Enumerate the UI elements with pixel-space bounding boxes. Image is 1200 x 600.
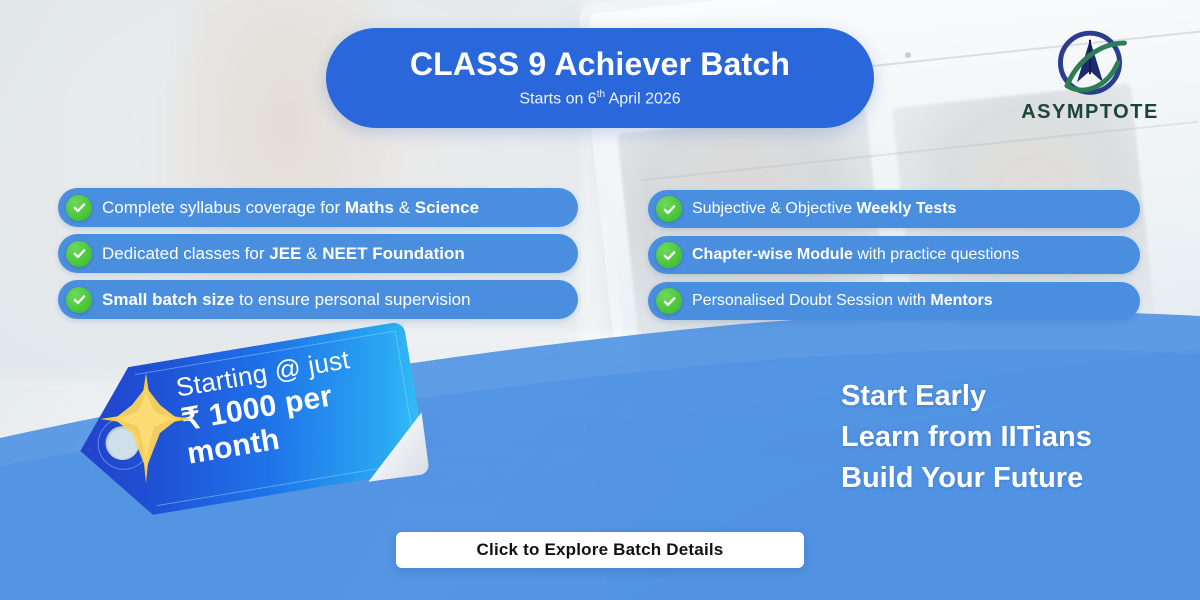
check-circle-icon [66, 287, 92, 313]
feature-plain-2: with practice questions [853, 246, 1019, 263]
feature-bold-1: Small batch size [102, 290, 234, 309]
start-date-suffix: April 2026 [605, 91, 681, 108]
page-title: CLASS 9 Achiever Batch [410, 48, 790, 80]
feature-label: Personalised Doubt Session with Mentors [692, 293, 993, 309]
sparkle-star-icon [100, 373, 192, 483]
tagline-block: Start Early Learn from IITians Build You… [841, 376, 1171, 500]
feature-bold-1: Mentors [930, 292, 992, 309]
check-circle-icon [66, 195, 92, 221]
feature-plain-1: Personalised Doubt Session with [692, 292, 930, 309]
tagline-line-2: Learn from IITians [841, 417, 1171, 458]
feature-bold-1: Weekly Tests [857, 200, 957, 217]
check-circle-icon [656, 288, 682, 314]
feature-bold-2: NEET Foundation [322, 244, 465, 263]
feature-item: Complete syllabus coverage for Maths & S… [58, 188, 578, 227]
start-date-label: Starts on 6th April 2026 [519, 90, 680, 107]
feature-list-right: Subjective & Objective Weekly Tests Chap… [648, 190, 1140, 328]
check-circle-icon [656, 196, 682, 222]
feature-plain-2: to ensure personal supervision [234, 290, 470, 309]
explore-batch-details-button[interactable]: Click to Explore Batch Details [396, 532, 804, 568]
feature-item: Personalised Doubt Session with Mentors [648, 282, 1140, 320]
feature-plain-1: Dedicated classes for [102, 244, 269, 263]
check-circle-icon [656, 242, 682, 268]
background-camera-dot [905, 52, 911, 58]
start-date-ordinal: th [597, 89, 605, 100]
feature-plain-1: Complete syllabus coverage for [102, 198, 345, 217]
feature-item: Subjective & Objective Weekly Tests [648, 190, 1140, 228]
cta-label: Click to Explore Batch Details [477, 540, 724, 560]
feature-bold-1: Maths [345, 198, 394, 217]
feature-bold-2: Science [415, 198, 479, 217]
start-date-prefix: Starts on 6 [519, 91, 596, 108]
promo-banner: CLASS 9 Achiever Batch Starts on 6th Apr… [0, 0, 1200, 600]
tagline-line-3: Build Your Future [841, 458, 1171, 499]
feature-item: Dedicated classes for JEE & NEET Foundat… [58, 234, 578, 273]
feature-label: Complete syllabus coverage for Maths & S… [102, 199, 479, 216]
feature-plain-2: & [394, 198, 415, 217]
feature-label: Chapter-wise Module with practice questi… [692, 247, 1019, 263]
header-banner: CLASS 9 Achiever Batch Starts on 6th Apr… [326, 28, 874, 128]
feature-plain-1: Subjective & Objective [692, 200, 857, 217]
check-circle-icon [66, 241, 92, 267]
asymptote-circle-a-logo-icon [1049, 25, 1131, 107]
feature-item: Small batch size to ensure personal supe… [58, 280, 578, 319]
feature-item: Chapter-wise Module with practice questi… [648, 236, 1140, 274]
feature-plain-2: & [301, 244, 322, 263]
tagline-line-1: Start Early [841, 376, 1171, 417]
feature-label: Subjective & Objective Weekly Tests [692, 201, 956, 217]
feature-bold-1: JEE [269, 244, 301, 263]
feature-bold-1: Chapter-wise Module [692, 246, 853, 263]
feature-list-left: Complete syllabus coverage for Maths & S… [58, 188, 578, 326]
feature-label: Dedicated classes for JEE & NEET Foundat… [102, 245, 465, 262]
brand-logo[interactable]: ASYMPTOTE [1020, 25, 1160, 135]
feature-label: Small batch size to ensure personal supe… [102, 291, 471, 308]
logo-wordmark: ASYMPTOTE [1021, 101, 1159, 124]
